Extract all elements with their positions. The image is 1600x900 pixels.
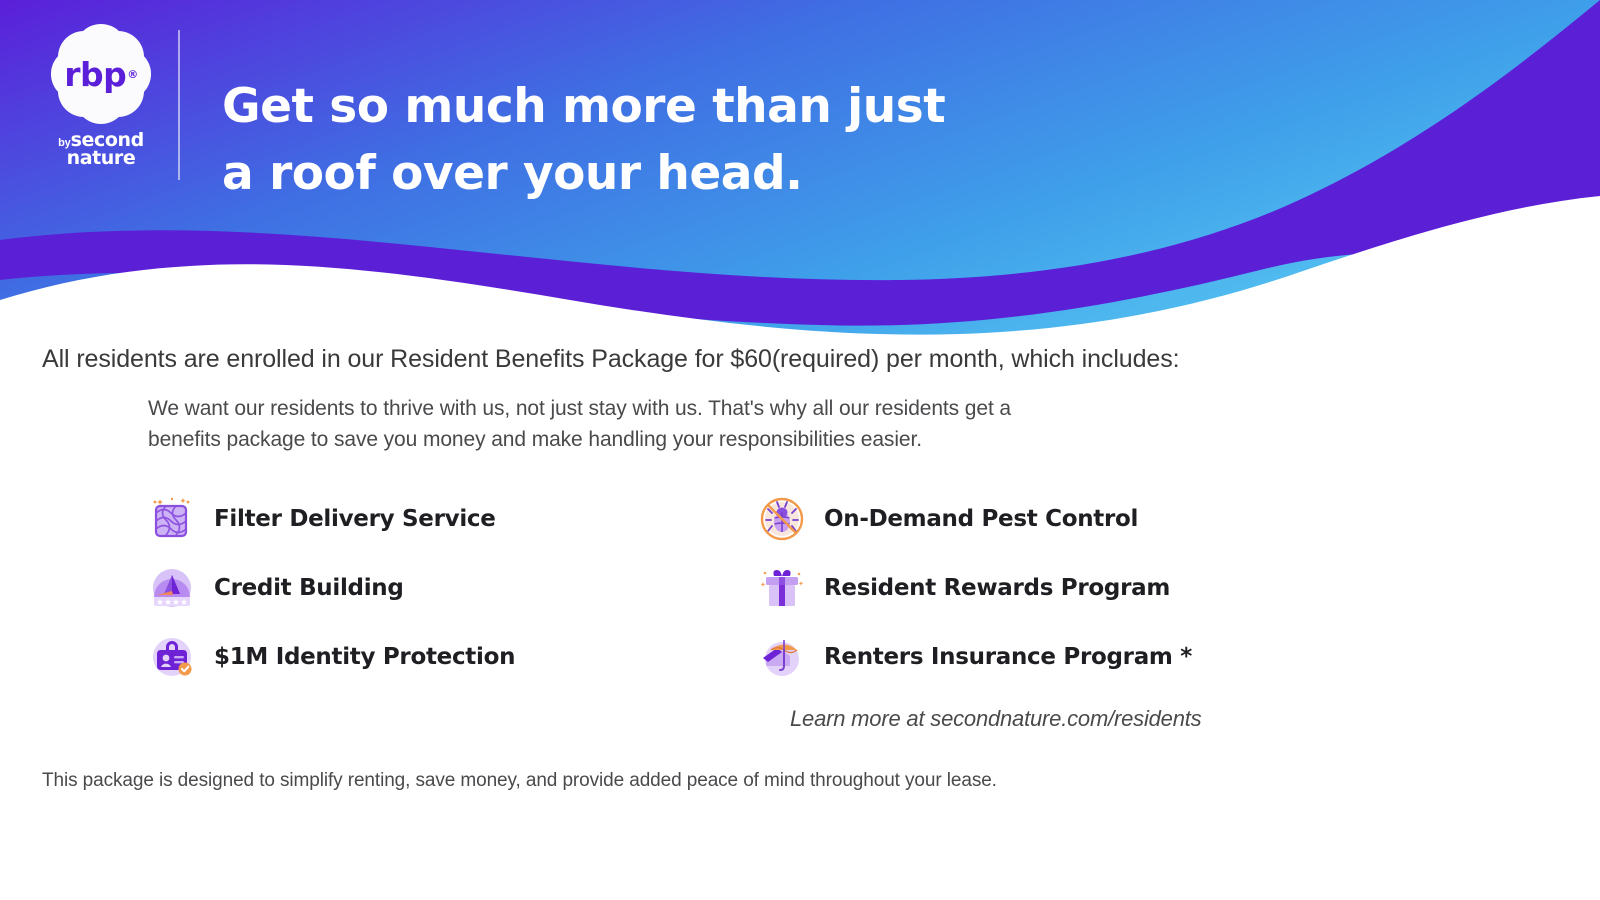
logo-wordmark-text: rbp: [64, 55, 126, 94]
brand-logo: rbp® bysecond nature: [42, 22, 160, 182]
rbp-benefits-flyer: rbp® bysecond nature Get so much more th…: [0, 0, 1600, 900]
benefit-label: Filter Delivery Service: [214, 506, 496, 532]
logo-wordmark: rbp®: [45, 22, 157, 126]
benefit-label: Renters Insurance Program *: [824, 644, 1192, 670]
subtext-line-2: benefits package to save you money and m…: [148, 424, 1288, 455]
hero-banner: rbp® bysecond nature Get so much more th…: [0, 0, 1600, 335]
logo-divider: [178, 30, 180, 180]
rbp-blob-logo: rbp®: [45, 22, 157, 126]
benefit-label: $1M Identity Protection: [214, 644, 515, 670]
credit-score-gauge-icon: [148, 564, 196, 612]
logo-trademark: ®: [127, 68, 138, 81]
logo-byline-line2: nature: [42, 150, 160, 167]
gift-box-icon: [758, 564, 806, 612]
benefits-column-right: On-Demand Pest Control: [758, 484, 1318, 691]
air-filter-icon: [148, 495, 196, 543]
headline-line-2: a roof over your head.: [222, 140, 1222, 207]
footnote-text: This package is designed to simplify ren…: [42, 770, 997, 792]
benefit-resident-rewards: Resident Rewards Program: [758, 553, 1318, 622]
benefit-renters-insurance: Renters Insurance Program *: [758, 622, 1318, 691]
subtext-paragraph: We want our residents to thrive with us,…: [148, 393, 1288, 455]
logo-byline: bysecond nature: [42, 132, 160, 167]
learn-more-link[interactable]: Learn more at secondnature.com/residents: [790, 706, 1201, 732]
benefit-label: Resident Rewards Program: [824, 575, 1170, 601]
benefit-pest-control: On-Demand Pest Control: [758, 484, 1318, 553]
identity-badge-icon: [148, 633, 196, 681]
benefit-filter-delivery-service: Filter Delivery Service: [148, 484, 708, 553]
benefit-label: On-Demand Pest Control: [824, 506, 1138, 532]
hero-headline: Get so much more than just a roof over y…: [222, 73, 1222, 207]
intro-paragraph: All residents are enrolled in our Reside…: [42, 345, 1179, 374]
benefits-column-left: Filter Delivery Service: [148, 484, 708, 691]
umbrella-house-icon: [758, 633, 806, 681]
benefit-identity-protection: $1M Identity Protection: [148, 622, 708, 691]
benefit-label: Credit Building: [214, 575, 404, 601]
no-pest-icon: [758, 495, 806, 543]
benefit-credit-building: Credit Building: [148, 553, 708, 622]
headline-line-1: Get so much more than just: [222, 73, 1222, 140]
subtext-line-1: We want our residents to thrive with us,…: [148, 393, 1288, 424]
